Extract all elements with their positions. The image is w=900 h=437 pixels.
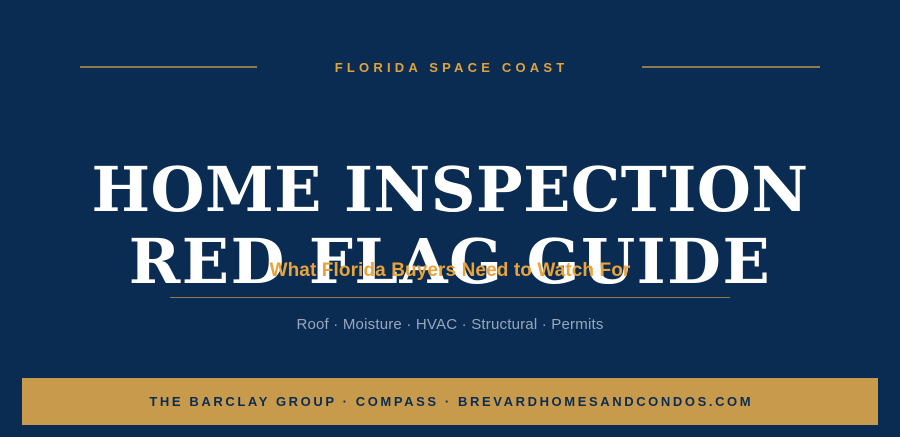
eyebrow-row: FLORIDA SPACE COAST xyxy=(0,56,900,78)
page-title-line-1: HOME INSPECTION xyxy=(0,154,900,226)
footer-bar: THE BARCLAY GROUP · COMPASS · BREVARDHOM… xyxy=(22,378,878,425)
eyebrow-rule-right-decoration xyxy=(642,66,820,68)
eyebrow-rule-left-decoration xyxy=(80,66,257,68)
divider-rule xyxy=(170,297,730,298)
eyebrow-label: FLORIDA SPACE COAST xyxy=(331,61,569,74)
poster-canvas: FLORIDA SPACE COAST HOME INSPECTION RED … xyxy=(0,0,900,437)
footer-credits: THE BARCLAY GROUP · COMPASS · BREVARDHOM… xyxy=(147,395,753,408)
page-subtitle: What Florida Buyers Need to Watch For xyxy=(0,259,900,283)
keyword-list: Roof · Moisture · HVAC · Structural · Pe… xyxy=(0,315,900,335)
